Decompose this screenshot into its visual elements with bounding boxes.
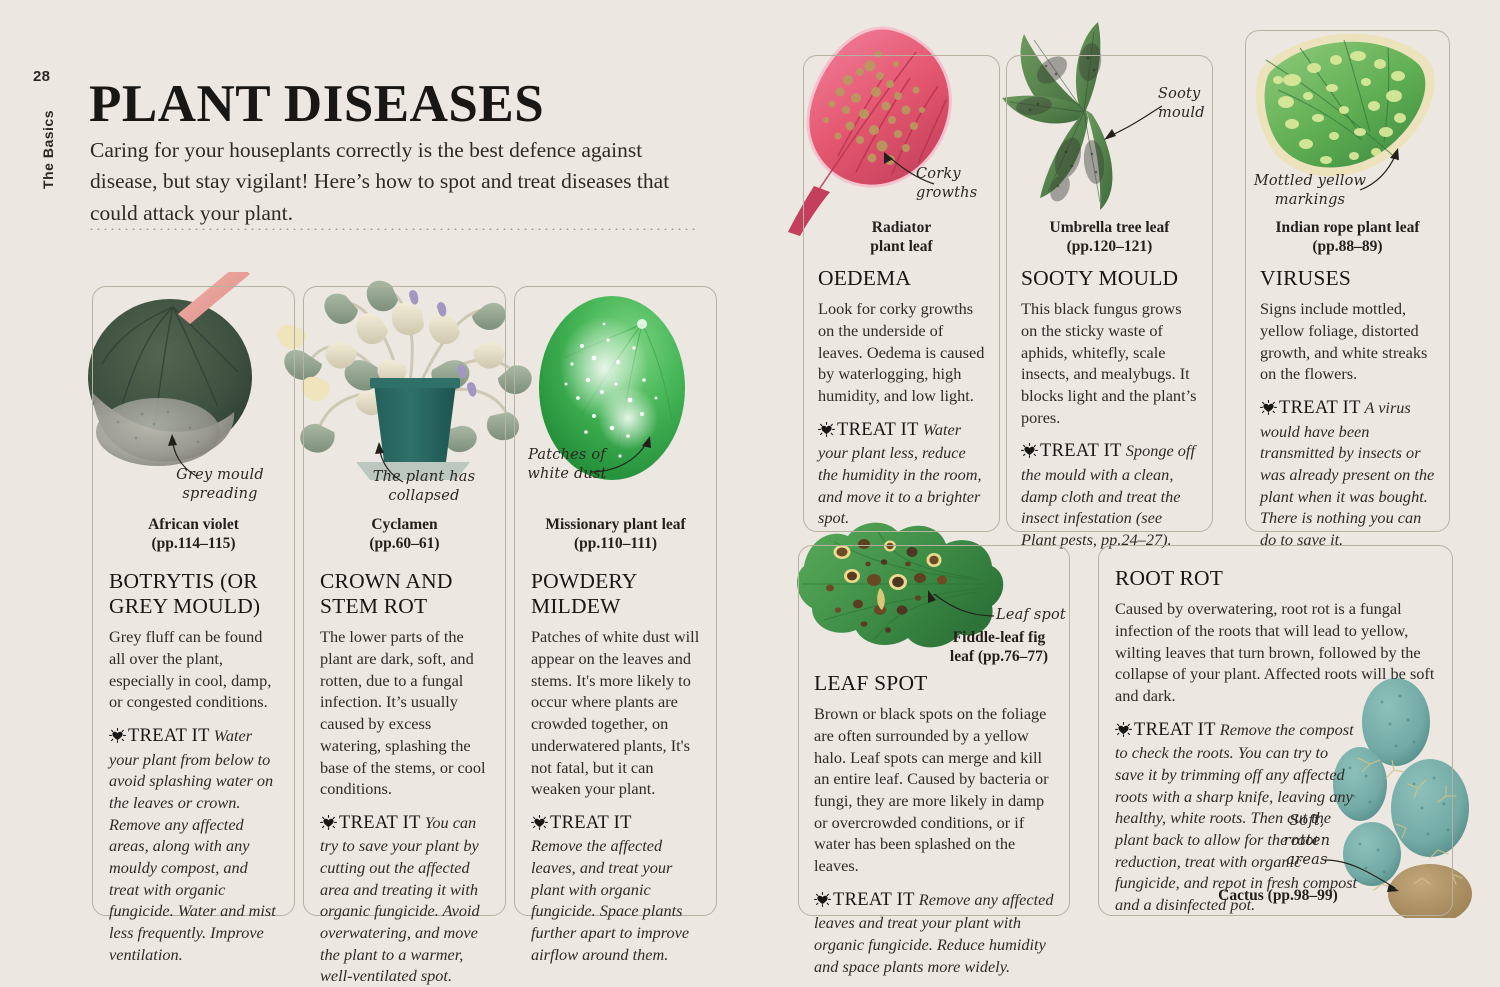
treat-text-powdery-mildew: Remove the affected leaves, and treat yo…: [531, 836, 689, 963]
treat-it-label: TREAT IT: [550, 813, 632, 833]
treat-it-label: TREAT IT: [837, 420, 919, 440]
page-title: PLANT DISEASES: [89, 74, 544, 134]
sun-heart-icon: [531, 814, 548, 829]
card-viruses[interactable]: VIRUSES Signs include mottled, yellow fo…: [1245, 30, 1450, 532]
card-botrytis[interactable]: African violet (pp.114–115) BOTRYTIS (OR…: [92, 286, 295, 916]
sun-heart-icon: [1021, 442, 1038, 457]
treat-leaf-spot: TREAT IT Remove any affected leaves and …: [814, 888, 1054, 978]
sun-heart-icon: [1260, 399, 1277, 414]
card-powdery-mildew[interactable]: Missionary plant leaf (pp.110–111) POWDE…: [514, 286, 717, 916]
sun-heart-icon: [320, 814, 337, 829]
treat-it-label: TREAT IT: [1279, 398, 1361, 418]
title-leaf-spot: LEAF SPOT: [814, 671, 1054, 696]
treat-it-label: TREAT IT: [128, 726, 210, 746]
body-leaf-spot: Brown or black spots on the foliage are …: [814, 703, 1054, 876]
body-sooty-mould: This black fungus grows on the sticky wa…: [1021, 298, 1198, 428]
treat-text-root-rot: Remove the compost to check the roots. Y…: [1115, 720, 1357, 914]
body-viruses: Signs include mottled, yellow foliage, d…: [1260, 298, 1435, 385]
body-oedema: Look for corky growths on the underside …: [818, 298, 985, 406]
body-botrytis: Grey fluff can be found all over the pla…: [109, 626, 278, 713]
title-oedema: OEDEMA: [818, 266, 985, 291]
treat-viruses: TREAT IT A virus would have been transmi…: [1260, 396, 1435, 551]
card-sooty-mould[interactable]: SOOTY MOULD This black fungus grows on t…: [1006, 55, 1213, 532]
treat-text-botrytis: Water your plant from below to avoid spl…: [109, 726, 276, 964]
treat-text-viruses: A virus would have been transmitted by i…: [1260, 398, 1434, 549]
sun-heart-icon: [818, 421, 835, 436]
treat-it-label: TREAT IT: [833, 890, 915, 910]
sun-heart-icon: [814, 891, 831, 906]
intro-paragraph: Caring for your houseplants correctly is…: [90, 135, 690, 230]
treat-text-crown-stem-rot: You can try to save your plant by cuttin…: [320, 813, 480, 986]
section-tab: The Basics: [40, 110, 56, 189]
sun-heart-icon: [109, 727, 126, 742]
treat-sooty-mould: TREAT IT Sponge off the mould with a cle…: [1021, 439, 1198, 550]
caption-cyclamen: Cyclamen (pp.60–61): [320, 515, 489, 554]
card-crown-stem-rot[interactable]: Cyclamen (pp.60–61) CROWN AND STEM ROT T…: [303, 286, 506, 916]
dotted-rule: [88, 228, 698, 230]
treat-it-label: TREAT IT: [339, 813, 421, 833]
title-crown-stem-rot: CROWN AND STEM ROT: [320, 569, 489, 620]
book-spread: 28 The Basics PLANT DISEASES Caring for …: [0, 0, 1500, 975]
title-viruses: VIRUSES: [1260, 266, 1435, 291]
caption-missionary-plant: Missionary plant leaf (pp.110–111): [531, 515, 700, 554]
sun-heart-icon: [1115, 721, 1132, 736]
title-sooty-mould: SOOTY MOULD: [1021, 266, 1198, 291]
card-leaf-spot[interactable]: LEAF SPOT Brown or black spots on the fo…: [798, 545, 1070, 916]
treat-oedema: TREAT IT Water your plant less, reduce t…: [818, 418, 985, 529]
title-root-rot: ROOT ROT: [1115, 566, 1436, 591]
caption-african-violet: African violet (pp.114–115): [109, 515, 278, 554]
title-powdery-mildew: POWDERY MILDEW: [531, 569, 700, 620]
body-root-rot: Caused by overwatering, root rot is a fu…: [1115, 598, 1436, 706]
body-powdery-mildew: Patches of white dust will appear on the…: [531, 626, 700, 799]
treat-botrytis: TREAT IT Water your plant from below to …: [109, 724, 278, 965]
body-crown-stem-rot: The lower parts of the plant are dark, s…: [320, 626, 489, 799]
card-root-rot[interactable]: ROOT ROT Caused by overwatering, root ro…: [1098, 545, 1453, 916]
title-botrytis: BOTRYTIS (OR GREY MOULD): [109, 569, 278, 620]
card-oedema[interactable]: OEDEMA Look for corky growths on the und…: [803, 55, 1000, 532]
treat-it-label: TREAT IT: [1134, 720, 1216, 740]
treat-root-rot: TREAT IT Remove the compost to check the…: [1115, 718, 1360, 916]
treat-it-label: TREAT IT: [1040, 441, 1122, 461]
treat-crown-stem-rot: TREAT IT You can try to save your plant …: [320, 811, 489, 987]
treat-powdery-mildew: TREAT IT Remove the affected leaves, and…: [531, 811, 700, 966]
page-number: 28: [33, 68, 50, 85]
